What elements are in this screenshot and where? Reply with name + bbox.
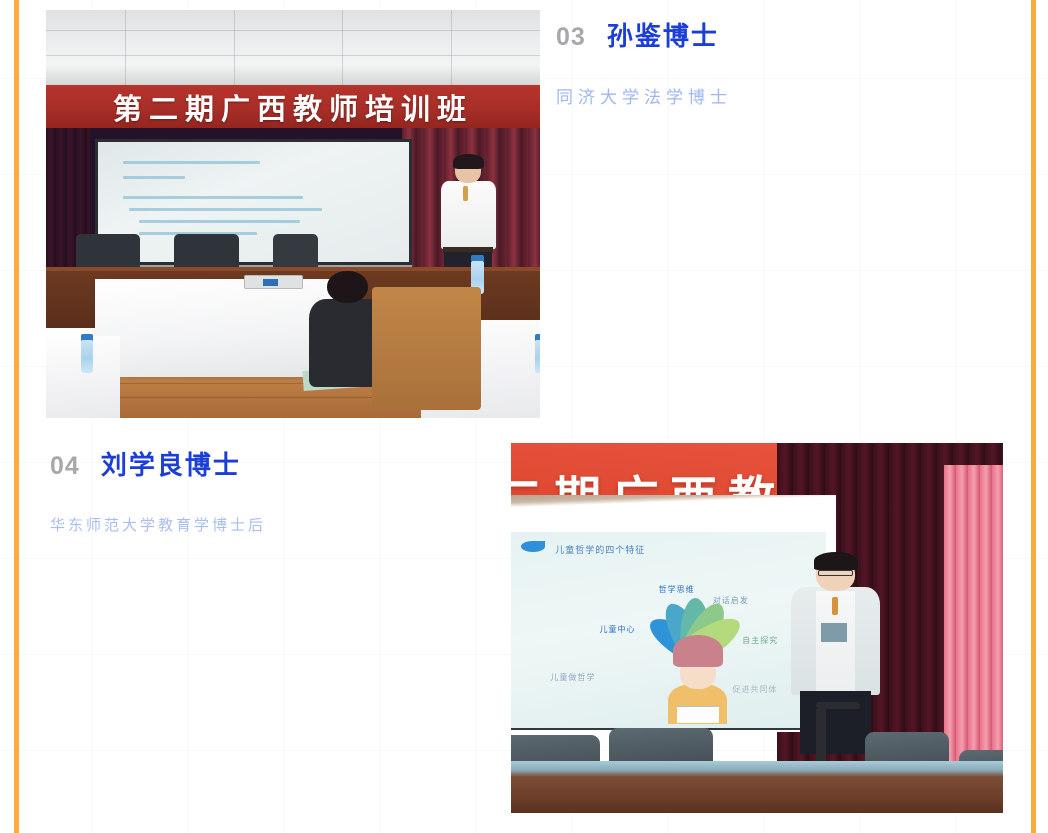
tshirt-print xyxy=(821,623,848,643)
water-bottle xyxy=(81,340,94,373)
ceiling-line xyxy=(125,10,126,88)
book-icon xyxy=(677,706,720,723)
child-hair xyxy=(673,635,723,667)
slide-label: 自主探究 xyxy=(742,635,778,646)
banner-text: 第二期广西教师培训班 xyxy=(46,85,540,128)
speaker-pants xyxy=(800,691,871,754)
ceiling-line xyxy=(451,10,452,88)
speaker-hair xyxy=(453,154,483,169)
section-04: 04 刘学良博士 华东师范大学教育学博士后 二期广西教师培训班 儿童哲学的四个特… xyxy=(0,430,1048,833)
slide-label: 哲学思维 xyxy=(659,584,695,595)
water-bottle xyxy=(535,340,540,373)
projection-screen xyxy=(95,139,411,265)
section-subtitle: 华东师范大学教育学博士后 xyxy=(50,514,266,535)
section-03-heading: 03 孙鉴博士 xyxy=(556,16,732,53)
cartoon-child-illustration xyxy=(668,635,727,724)
section-number: 04 xyxy=(50,452,80,481)
slide-label: 对话启发 xyxy=(713,595,749,606)
slide-text-line xyxy=(123,176,185,179)
slide-label: 儿童中心 xyxy=(600,624,636,635)
slide-label: 促进共同体 xyxy=(732,684,777,695)
ceiling-line xyxy=(342,10,343,88)
mic-stand-head xyxy=(816,702,860,709)
microphone-icon xyxy=(463,186,468,201)
section-03: 第二期广西教师培训班 xyxy=(0,0,1048,430)
page-title: 孙鉴博士 xyxy=(607,16,719,53)
speaker-shirt xyxy=(441,181,495,249)
section-04-text: 04 刘学良博士 华东师范大学教育学博士后 xyxy=(50,445,266,535)
slide-text-line xyxy=(129,208,321,211)
ceiling xyxy=(46,10,540,88)
speaker-figure xyxy=(791,554,880,750)
section-subtitle: 同济大学法学博士 xyxy=(556,83,732,108)
wooden-chair xyxy=(372,287,481,409)
audience-head xyxy=(327,271,368,303)
speaker-figure xyxy=(441,157,495,267)
slide-text-line xyxy=(139,220,300,223)
slide-text-line xyxy=(123,196,303,199)
slide-title: 儿童哲学的四个特征 xyxy=(555,543,645,556)
slide-text-line xyxy=(123,161,259,164)
eyeglasses-icon xyxy=(818,570,853,576)
lecture-hall-photo-speaker-white-shirt: 第二期广西教师培训班 xyxy=(46,10,540,418)
curtain-pink xyxy=(944,465,1003,783)
ceiling-line xyxy=(46,55,540,56)
page-title: 刘学良博士 xyxy=(101,445,241,482)
projector-lens xyxy=(263,279,278,286)
section-04-heading: 04 刘学良博士 xyxy=(50,445,266,482)
ceiling-line xyxy=(46,30,540,31)
speaker-hair xyxy=(814,552,858,570)
slide-label: 儿童做哲学 xyxy=(550,672,595,683)
lecture-hall-photo-speaker-glasses-slide: 二期广西教师培训班 儿童哲学的四个特征 哲学思维 对话启发 儿童中心 自主探究 … xyxy=(511,443,1003,813)
section-03-text: 03 孙鉴博士 同济大学法学博士 xyxy=(556,16,732,108)
section-number: 03 xyxy=(556,23,586,52)
wooden-podium xyxy=(511,761,1003,813)
ceiling-line xyxy=(234,10,235,88)
microphone-icon xyxy=(832,597,838,615)
